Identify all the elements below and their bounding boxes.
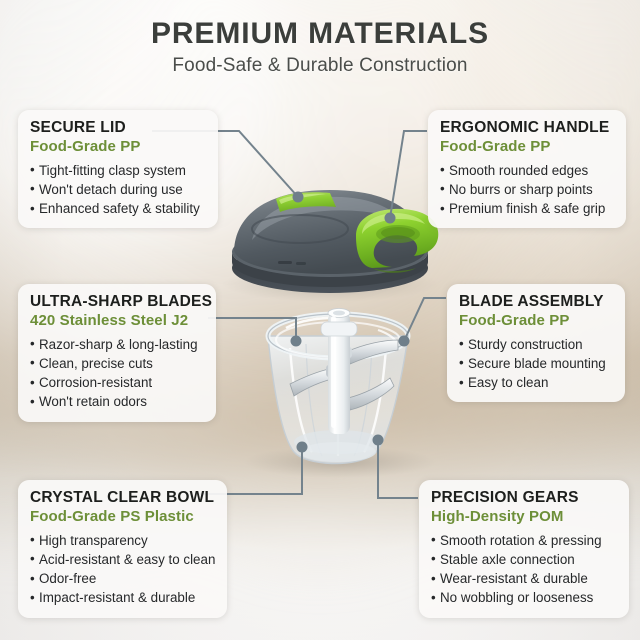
callout-bullet: High transparency [30, 531, 215, 550]
callout-bullet: Smooth rotation & pressing [431, 531, 617, 550]
callout-card-blade-assembly[interactable]: BLADE ASSEMBLY Food-Grade PP Sturdy cons… [447, 284, 625, 402]
leader-dot-lid [293, 192, 304, 203]
callout-bullet: Tight-fitting clasp system [30, 161, 206, 180]
leader-dot-assembly [399, 336, 410, 347]
callout-bullet: Easy to clean [459, 373, 613, 392]
leader-dot-gears [373, 435, 384, 446]
leader-line-blades [208, 318, 296, 341]
callout-bullet: Won't retain odors [30, 392, 204, 411]
callout-bullet-list: Razor-sharp & long-lasting Clean, precis… [30, 335, 204, 412]
callout-material: Food-Grade PP [459, 312, 613, 331]
callout-bullet: Acid-resistant & easy to clean [30, 550, 215, 569]
leader-dot-bowl [297, 442, 308, 453]
leader-dot-handle [385, 213, 396, 224]
callout-bullet: Won't detach during use [30, 180, 206, 199]
callout-bullet: Stable axle connection [431, 550, 617, 569]
leader-dot-blades [291, 336, 302, 347]
callout-title: BLADE ASSEMBLY [459, 293, 613, 311]
callout-title: CRYSTAL CLEAR BOWL [30, 489, 215, 507]
callout-title: PRECISION GEARS [431, 489, 617, 507]
callout-card-secure-lid[interactable]: SECURE LID Food-Grade PP Tight-fitting c… [18, 110, 218, 228]
callout-bullet: Enhanced safety & stability [30, 199, 206, 218]
callout-bullet: Sturdy construction [459, 335, 613, 354]
callout-title: SECURE LID [30, 119, 206, 137]
callout-card-ergonomic-handle[interactable]: ERGONOMIC HANDLE Food-Grade PP Smooth ro… [428, 110, 626, 228]
callout-bullet: Premium finish & safe grip [440, 199, 614, 218]
callout-title: ERGONOMIC HANDLE [440, 119, 614, 137]
callout-bullet: Corrosion-resistant [30, 373, 204, 392]
callout-bullet: No burrs or sharp points [440, 180, 614, 199]
callout-bullet-list: Tight-fitting clasp system Won't detach … [30, 161, 206, 219]
callout-bullet-list: High transparency Acid-resistant & easy … [30, 531, 215, 608]
callout-bullet: Smooth rounded edges [440, 161, 614, 180]
callout-title: ULTRA-SHARP BLADES [30, 293, 204, 311]
page-subtitle: Food-Safe & Durable Construction [0, 55, 640, 77]
callout-bullet: Secure blade mounting [459, 354, 613, 373]
callout-material: Food-Grade PP [30, 138, 206, 157]
callout-bullet: Odor-free [30, 569, 215, 588]
callout-card-precision-gears[interactable]: PRECISION GEARS High-Density POM Smooth … [419, 480, 629, 618]
callout-bullet: Wear-resistant & durable [431, 569, 617, 588]
callout-bullet: No wobbling or looseness [431, 588, 617, 607]
infographic-header: PREMIUM MATERIALS Food-Safe & Durable Co… [0, 18, 640, 77]
leader-line-handle [390, 131, 427, 218]
callout-bullet-list: Smooth rounded edges No burrs or sharp p… [440, 161, 614, 219]
leader-line-assembly [404, 298, 446, 341]
callout-material: Food-Grade PS Plastic [30, 508, 215, 527]
callout-material: High-Density POM [431, 508, 617, 527]
callout-card-ultra-sharp-blades[interactable]: ULTRA-SHARP BLADES 420 Stainless Steel J… [18, 284, 216, 422]
callout-bullet: Razor-sharp & long-lasting [30, 335, 204, 354]
callout-material: Food-Grade PP [440, 138, 614, 157]
callout-bullet: Impact-resistant & durable [30, 588, 215, 607]
callout-bullet-list: Smooth rotation & pressing Stable axle c… [431, 531, 617, 608]
callout-card-crystal-clear-bowl[interactable]: CRYSTAL CLEAR BOWL Food-Grade PS Plastic… [18, 480, 227, 618]
callout-material: 420 Stainless Steel J2 [30, 312, 204, 331]
leader-line-gears [378, 440, 418, 498]
callout-bullet-list: Sturdy construction Secure blade mountin… [459, 335, 613, 393]
callout-bullet: Clean, precise cuts [30, 354, 204, 373]
page-title: PREMIUM MATERIALS [0, 18, 640, 50]
